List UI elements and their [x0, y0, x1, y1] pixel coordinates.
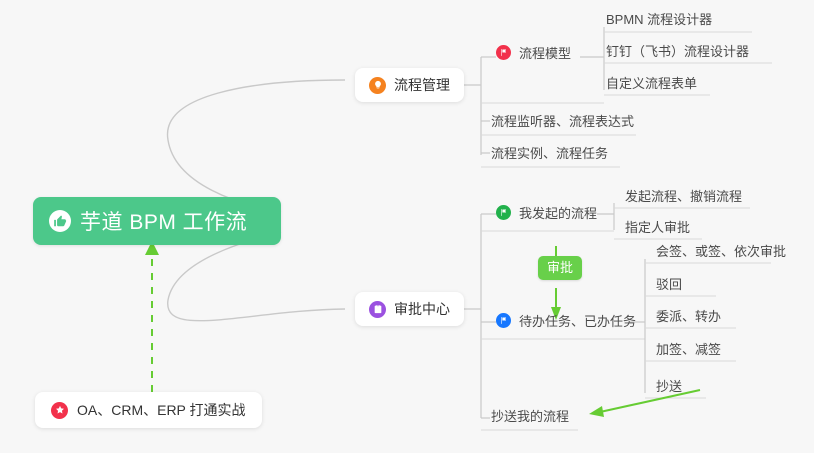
node-label-todo-done: 待办任务、已办任务	[519, 311, 636, 330]
clipboard-icon	[369, 301, 386, 318]
star-icon	[51, 402, 68, 419]
node-label-delegate-transfer: 委派、转办	[656, 306, 721, 325]
node-add-remove-sign[interactable]: 加签、减签	[656, 339, 721, 363]
branch-card-process-management[interactable]: 流程管理	[355, 68, 464, 102]
branch-card-approval-center[interactable]: 审批中心	[355, 292, 464, 326]
node-label-assignee-approval: 指定人审批	[625, 217, 690, 236]
node-label-listener-expression: 流程监听器、流程表达式	[491, 111, 634, 130]
node-dingtalk-feishu-designer[interactable]: 钉钉（飞书）流程设计器	[606, 41, 749, 65]
node-process-model[interactable]: 流程模型	[496, 43, 571, 67]
flag-icon	[496, 45, 511, 60]
node-reject[interactable]: 驳回	[656, 274, 682, 298]
node-listener-expression[interactable]: 流程监听器、流程表达式	[491, 111, 634, 135]
thumbs-up-icon	[49, 210, 71, 232]
root-node[interactable]: 芋道 BPM 工作流	[33, 197, 281, 245]
node-label-dingtalk-feishu-designer: 钉钉（飞书）流程设计器	[606, 41, 749, 60]
node-label-cc-to-me: 抄送我的流程	[491, 406, 569, 425]
root-label: 芋道 BPM 工作流	[80, 206, 247, 236]
node-label-my-initiated: 我发起的流程	[519, 203, 597, 222]
node-assignee-approval[interactable]: 指定人审批	[625, 217, 690, 241]
bottom-card-integration[interactable]: OA、CRM、ERP 打通实战	[35, 392, 262, 428]
lightbulb-icon	[369, 77, 386, 94]
node-label-bpmn-designer: BPMN 流程设计器	[606, 9, 712, 28]
annotation-tag-approval-label: 审批	[547, 260, 573, 275]
node-label-countersign: 会签、或签、依次审批	[656, 241, 786, 260]
branch-label-process-management: 流程管理	[394, 75, 450, 95]
node-countersign[interactable]: 会签、或签、依次审批	[656, 241, 786, 265]
node-my-initiated[interactable]: 我发起的流程	[496, 203, 597, 227]
node-cc-to-me[interactable]: 抄送我的流程	[491, 406, 569, 430]
mindmap-canvas: 芋道 BPM 工作流 流程管理 审批中心 流程模型 流程监听器、流程表达式 流程	[0, 0, 814, 453]
node-label-add-remove-sign: 加签、减签	[656, 339, 721, 358]
node-bpmn-designer[interactable]: BPMN 流程设计器	[606, 9, 712, 33]
flag-icon	[496, 205, 511, 220]
flag-icon	[496, 313, 511, 328]
node-label-process-model: 流程模型	[519, 43, 571, 62]
node-instance-task[interactable]: 流程实例、流程任务	[491, 143, 608, 167]
node-start-cancel[interactable]: 发起流程、撤销流程	[625, 186, 742, 210]
node-label-cc: 抄送	[656, 376, 682, 395]
bottom-card-label: OA、CRM、ERP 打通实战	[77, 400, 246, 420]
node-custom-process-form[interactable]: 自定义流程表单	[606, 73, 697, 97]
node-label-start-cancel: 发起流程、撤销流程	[625, 186, 742, 205]
branch-label-approval-center: 审批中心	[394, 299, 450, 319]
node-cc[interactable]: 抄送	[656, 376, 682, 400]
node-todo-done[interactable]: 待办任务、已办任务	[496, 311, 636, 335]
node-label-reject: 驳回	[656, 274, 682, 293]
node-delegate-transfer[interactable]: 委派、转办	[656, 306, 721, 330]
node-label-custom-process-form: 自定义流程表单	[606, 73, 697, 92]
node-label-instance-task: 流程实例、流程任务	[491, 143, 608, 162]
annotation-tag-approval: 审批	[538, 256, 582, 280]
